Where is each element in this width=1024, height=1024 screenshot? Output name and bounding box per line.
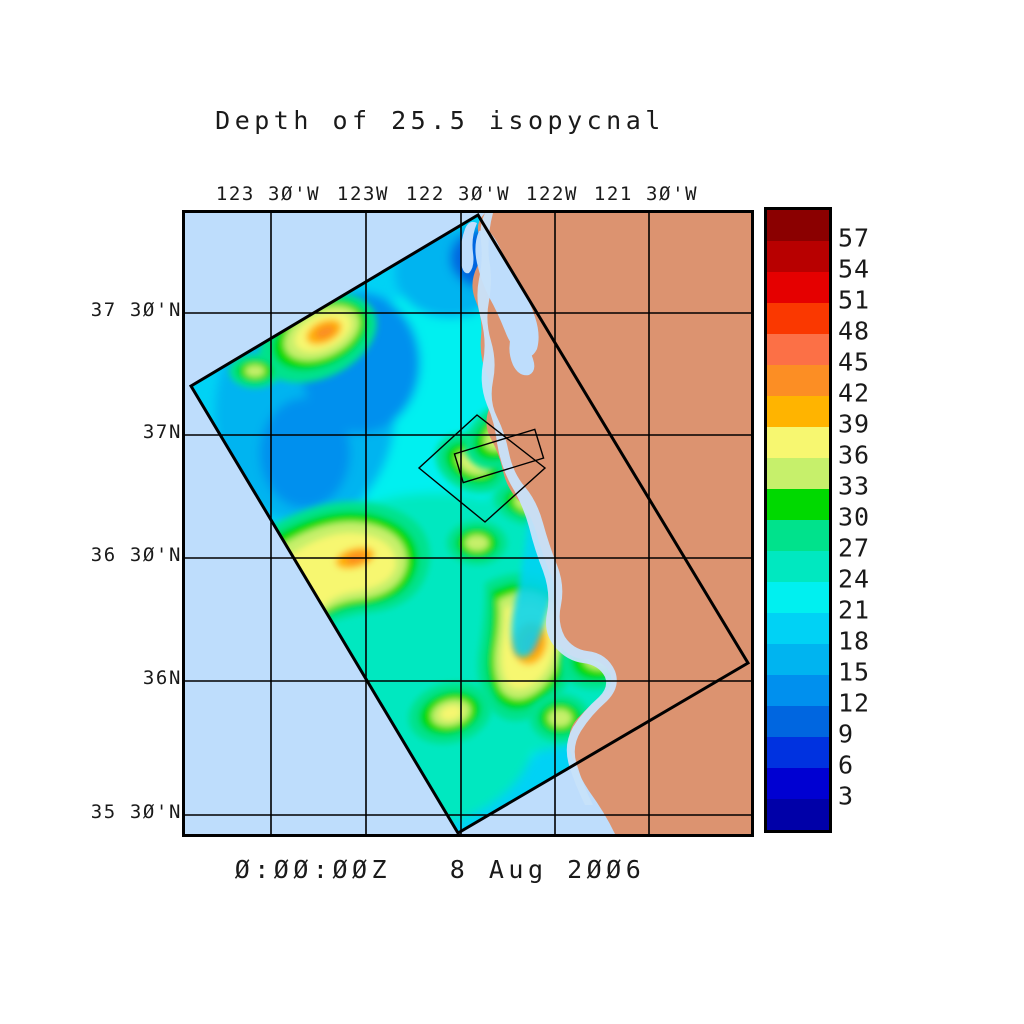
- colorbar-tick-label: 54: [838, 255, 870, 284]
- colorbar-band: [767, 799, 829, 830]
- colorbar-band: [767, 644, 829, 675]
- colorbar-tick-label: 42: [838, 379, 870, 408]
- colorbar-band: [767, 334, 829, 365]
- colorbar[interactable]: [764, 207, 832, 833]
- colorbar-band: [767, 427, 829, 458]
- colorbar-band: [767, 396, 829, 427]
- colorbar-tick-label: 3: [838, 782, 854, 811]
- colorbar-band: [767, 520, 829, 551]
- lon-tick-label: 123W: [337, 183, 389, 205]
- colorbar-band: [767, 675, 829, 706]
- colorbar-tick-label: 18: [838, 627, 870, 656]
- colorbar-band: [767, 489, 829, 520]
- map-plot-area[interactable]: [182, 210, 754, 837]
- colorbar-tick-label: 45: [838, 348, 870, 377]
- lat-tick-label: 37N: [143, 421, 182, 443]
- map-clip: [185, 213, 751, 834]
- colorbar-band: [767, 706, 829, 737]
- colorbar-band: [767, 303, 829, 334]
- colorbar-tick-label: 21: [838, 596, 870, 625]
- lat-tick-label: 36N: [143, 667, 182, 689]
- figure-root: Depth of 25.5 isopycnal 123 3Ø'W 123W 12…: [0, 0, 1024, 1024]
- lat-tick-label: 35 3Ø'N: [91, 801, 182, 823]
- colorbar-tick-label: 57: [838, 224, 870, 253]
- colorbar-tick-label: 9: [838, 720, 854, 749]
- colorbar-band: [767, 582, 829, 613]
- map-canvas: [185, 213, 751, 834]
- colorbar-tick-label: 51: [838, 286, 870, 315]
- colorbar-band: [767, 737, 829, 768]
- colorbar-band: [767, 272, 829, 303]
- colorbar-tick-label: 33: [838, 472, 870, 501]
- lon-tick-label: 122W: [526, 183, 578, 205]
- colorbar-band: [767, 210, 829, 241]
- lon-tick-label: 121 3Ø'W: [594, 183, 698, 205]
- lat-tick-label: 36 3Ø'N: [91, 544, 182, 566]
- lon-tick-label: 123 3Ø'W: [216, 183, 320, 205]
- colorbar-tick-label: 36: [838, 441, 870, 470]
- colorbar-band: [767, 458, 829, 489]
- colorbar-tick-label: 30: [838, 503, 870, 532]
- colorbar-band: [767, 241, 829, 272]
- colorbar-band: [767, 365, 829, 396]
- colorbar-tick-label: 39: [838, 410, 870, 439]
- colorbar-tick-label: 6: [838, 751, 854, 780]
- lon-tick-label: 122 3Ø'W: [406, 183, 510, 205]
- colorbar-tick-label: 27: [838, 534, 870, 563]
- colorbar-tick-label: 15: [838, 658, 870, 687]
- lat-tick-label: 37 3Ø'N: [91, 299, 182, 321]
- colorbar-tick-label: 24: [838, 565, 870, 594]
- page-title: Depth of 25.5 isopycnal: [0, 106, 880, 135]
- colorbar-band: [767, 551, 829, 582]
- colorbar-band: [767, 768, 829, 799]
- colorbar-tick-label: 48: [838, 317, 870, 346]
- time-caption: Ø:ØØ:ØØZ 8 Aug 2ØØ6: [0, 855, 880, 884]
- colorbar-band: [767, 613, 829, 644]
- colorbar-tick-label: 12: [838, 689, 870, 718]
